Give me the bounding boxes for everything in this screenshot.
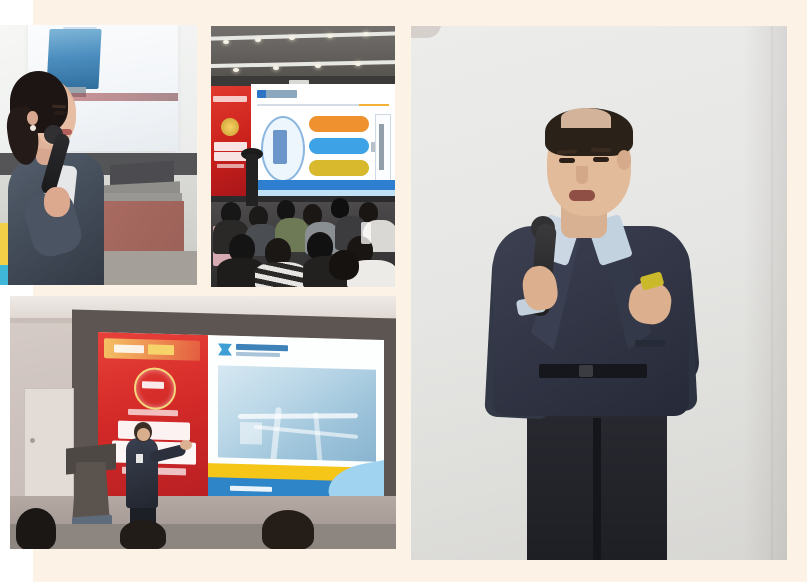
slide-footer-blue (251, 180, 395, 190)
audience-striped-shirt (255, 262, 307, 287)
woman-earring (30, 125, 36, 131)
water-bottle (361, 222, 371, 244)
woman-hand (44, 187, 70, 217)
speaker-leg-gap (593, 418, 601, 560)
photo-woman-content (0, 25, 197, 285)
banner-top-text-white (114, 344, 144, 353)
foreground-audience-head (120, 520, 166, 549)
speaker-eye-right (593, 157, 609, 162)
ceiling-spotlight-icon (223, 40, 229, 44)
photo-stage-with-red-banner[interactable] (10, 296, 396, 549)
presentation-slide (251, 84, 395, 198)
speaker-mouth (569, 190, 595, 201)
side-door (24, 388, 74, 500)
woman-eye (54, 111, 65, 115)
foreground-audience-head (16, 508, 56, 549)
photo-male-speaker-with-microphone[interactable] (411, 26, 787, 560)
speaker-forehead (561, 108, 611, 128)
ceiling-spotlight-icon (255, 38, 261, 42)
presenter-face (137, 428, 150, 441)
odin-logo-badge-icon (221, 118, 239, 136)
blazer-pocket (635, 340, 665, 347)
company-name-subtext (236, 352, 280, 357)
audience-head (277, 200, 295, 220)
wall-seam (771, 26, 773, 560)
odin-logo-wordmark (142, 381, 164, 389)
company-logo-icon (218, 343, 232, 355)
photo-speaker-content (411, 26, 787, 560)
wall-shadow (743, 26, 787, 560)
door-handle-icon (30, 438, 35, 443)
photo-audience-and-screen[interactable] (211, 26, 395, 287)
speaker-nose (576, 166, 588, 184)
ceiling-spotlight-icon (327, 34, 333, 38)
photo-hall-content (211, 26, 395, 287)
foreground-audience-head (262, 510, 314, 549)
ceiling-spotlight-icon (363, 32, 369, 36)
belt-buckle (579, 365, 593, 377)
slide-accent-rule (359, 104, 389, 106)
photo-woman-speaker-at-podium[interactable] (0, 25, 197, 285)
banner-top-text (213, 96, 247, 102)
presenter-hand (180, 440, 192, 450)
speaker-ear (617, 150, 631, 170)
slide-logo-icon (257, 90, 297, 98)
speaker-belt (539, 364, 647, 378)
audience-head (329, 250, 359, 280)
banner-subtext (217, 164, 244, 168)
product-pipe (238, 413, 358, 419)
red-event-banner (211, 86, 251, 196)
ceiling-spotlight-icon (315, 64, 321, 68)
presenter-body (126, 438, 158, 508)
ceiling-spotlight-icon (355, 62, 361, 66)
product-slide-panel (208, 335, 384, 508)
ceiling-spotlight-icon (273, 66, 279, 70)
company-name-text (236, 344, 288, 351)
photo-stage-content (10, 296, 396, 549)
presenter-badge (136, 454, 143, 463)
ceiling-spotlight-icon (289, 36, 295, 40)
slide-box-yellow (309, 160, 369, 176)
camera-tripod (246, 154, 258, 206)
woman-ear (27, 111, 38, 125)
stage-front-edge (10, 524, 396, 549)
audience-head (331, 198, 349, 218)
product-pipe (254, 425, 358, 439)
speaker-eye-left (559, 158, 575, 163)
slide-right-label (379, 124, 384, 170)
slide-box-blue (309, 138, 369, 154)
slide-oval-label (273, 130, 287, 164)
product-photo (218, 365, 376, 461)
ceiling-spotlight-icon (233, 68, 239, 72)
collage-canvas (0, 0, 807, 582)
banner-headline-brand (118, 421, 190, 441)
banner-top-text-gold (148, 344, 174, 355)
slide-box-orange (309, 116, 369, 132)
